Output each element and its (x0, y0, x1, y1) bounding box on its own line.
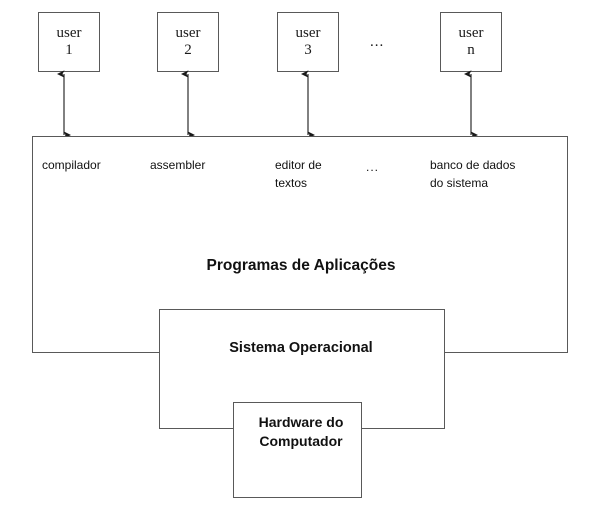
hardware-layer-title: Hardware do Computador (0, 413, 602, 451)
operating-system-layer-title: Sistema Operacional (0, 340, 602, 356)
app-row-ellipsis: ... (366, 160, 379, 174)
app-label-editor-de-textos: editor de textos (275, 156, 322, 192)
user-application-arrows (0, 0, 602, 140)
app-label-assembler: assembler (150, 156, 205, 174)
app-label-banco-de-dados: banco de dados do sistema (430, 156, 515, 192)
diagram-canvas: user 1 user 2 user 3 user n ... (0, 0, 602, 519)
applications-layer-title: Programas de Aplicações (0, 257, 602, 275)
app-label-compilador: compilador (42, 156, 101, 174)
